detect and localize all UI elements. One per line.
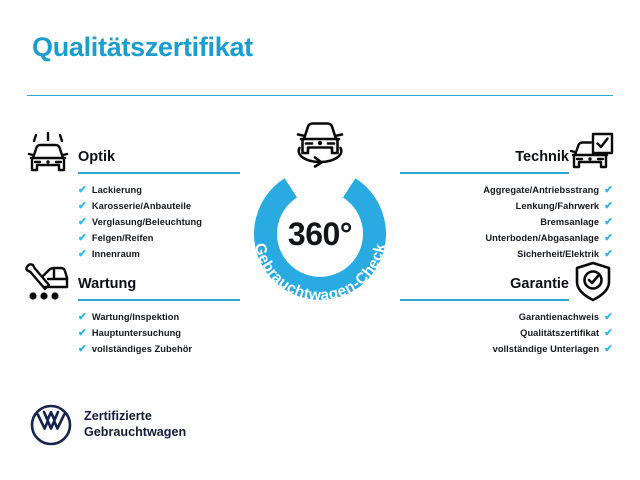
section-wartung-list: ✔Wartung/Inspektion ✔Hauptuntersuchung ✔… xyxy=(78,309,240,357)
check-icon: ✔ xyxy=(78,185,87,196)
car-shine-icon xyxy=(23,132,73,183)
check-icon: ✔ xyxy=(78,328,87,339)
list-item-label: Karosserie/Anbauteile xyxy=(92,201,191,211)
list-item-label: Unterboden/Abgasanlage xyxy=(485,233,599,243)
certificate-page: Qualitätszertifikat Optik ✔La xyxy=(0,0,640,480)
section-technik-header: Technik xyxy=(400,140,613,174)
list-item: Lenkung/Fahrwerk✔ xyxy=(400,198,613,214)
car-rotate-icon xyxy=(282,117,358,173)
section-garantie-title: Garantie xyxy=(510,276,569,292)
list-item-label: Garantienachweis xyxy=(519,312,599,322)
list-item-label: Lenkung/Fahrwerk xyxy=(516,201,599,211)
list-item-label: Hauptuntersuchung xyxy=(92,328,181,338)
check-icon: ✔ xyxy=(604,233,613,244)
section-optik-header: Optik xyxy=(78,140,240,174)
section-wartung-header: Wartung xyxy=(78,267,240,301)
list-item: ✔Verglasung/Beleuchtung xyxy=(78,214,240,230)
list-item: vollständige Unterlagen✔ xyxy=(400,341,613,357)
brand-line-2: Gebrauchtwagen xyxy=(84,425,186,439)
section-wartung: Wartung ✔Wartung/Inspektion ✔Hauptunters… xyxy=(78,267,240,357)
list-item-label: Aggregate/Antriebsstrang xyxy=(483,185,599,195)
wrench-car-icon xyxy=(21,259,73,310)
section-garantie: Garantie Garantienachweis✔ Qualitätszert… xyxy=(400,267,613,357)
list-item: Unterboden/Abgasanlage✔ xyxy=(400,230,613,246)
brand-footer: Zertifizierte Gebrauchtwagen xyxy=(30,404,186,446)
list-item: Aggregate/Antriebsstrang✔ xyxy=(400,182,613,198)
vw-logo xyxy=(30,404,72,446)
list-item: ✔Hauptuntersuchung xyxy=(78,325,240,341)
list-item-label: vollständige Unterlagen xyxy=(493,344,600,354)
check-icon: ✔ xyxy=(78,312,87,323)
check-icon: ✔ xyxy=(604,312,613,323)
list-item: ✔vollständiges Zubehör xyxy=(78,341,240,357)
section-technik-title: Technik xyxy=(515,149,569,165)
page-title: Qualitätszertifikat xyxy=(32,32,253,63)
section-optik-list: ✔Lackierung ✔Karosserie/Anbauteile ✔Verg… xyxy=(78,182,240,262)
list-item: Bremsanlage✔ xyxy=(400,214,613,230)
list-item: ✔Innenraum xyxy=(78,246,240,262)
list-item-label: Wartung/Inspektion xyxy=(92,312,179,322)
section-technik: Technik Aggregate/Antriebsstrang✔ Lenkun… xyxy=(400,140,613,262)
list-item: ✔Karosserie/Anbauteile xyxy=(78,198,240,214)
list-item-label: Verglasung/Beleuchtung xyxy=(92,217,202,227)
check-icon: ✔ xyxy=(604,185,613,196)
section-garantie-divider xyxy=(400,299,569,301)
check-icon: ✔ xyxy=(78,344,87,355)
list-item: ✔Wartung/Inspektion xyxy=(78,309,240,325)
section-optik: Optik ✔Lackierung ✔Karosserie/Anbauteile… xyxy=(78,140,240,262)
list-item-label: Lackierung xyxy=(92,185,142,195)
check-icon: ✔ xyxy=(604,217,613,228)
check-icon: ✔ xyxy=(604,249,613,260)
check-icon: ✔ xyxy=(604,344,613,355)
section-wartung-title: Wartung xyxy=(78,276,136,292)
section-optik-title: Optik xyxy=(78,149,115,165)
check-icon: ✔ xyxy=(78,249,87,260)
list-item-label: Felgen/Reifen xyxy=(92,233,154,243)
section-garantie-header: Garantie xyxy=(400,267,613,301)
title-divider xyxy=(27,95,613,96)
section-technik-divider xyxy=(400,172,569,174)
list-item-label: Qualitätszertifikat xyxy=(520,328,599,338)
list-item-label: Bremsanlage xyxy=(540,217,599,227)
section-wartung-divider xyxy=(78,299,240,301)
list-item-label: vollständiges Zubehör xyxy=(92,344,192,354)
list-item: ✔Felgen/Reifen xyxy=(78,230,240,246)
check-icon: ✔ xyxy=(78,233,87,244)
brand-footer-text: Zertifizierte Gebrauchtwagen xyxy=(84,409,186,440)
section-optik-divider xyxy=(78,172,240,174)
section-garantie-list: Garantienachweis✔ Qualitätszertifikat✔ v… xyxy=(400,309,613,357)
check-icon: ✔ xyxy=(78,201,87,212)
check-icon: ✔ xyxy=(604,328,613,339)
list-item-label: Sicherheit/Elektrik xyxy=(517,249,599,259)
list-item: Qualitätszertifikat✔ xyxy=(400,325,613,341)
list-item: Garantienachweis✔ xyxy=(400,309,613,325)
check-icon: ✔ xyxy=(604,201,613,212)
list-item: ✔Lackierung xyxy=(78,182,240,198)
brand-line-1: Zertifizierte xyxy=(84,409,152,423)
360-check-badge: Gebrauchtwagen-Check 360° xyxy=(238,152,402,316)
list-item-label: Innenraum xyxy=(92,249,140,259)
section-technik-list: Aggregate/Antriebsstrang✔ Lenkung/Fahrwe… xyxy=(400,182,613,262)
check-icon: ✔ xyxy=(78,217,87,228)
